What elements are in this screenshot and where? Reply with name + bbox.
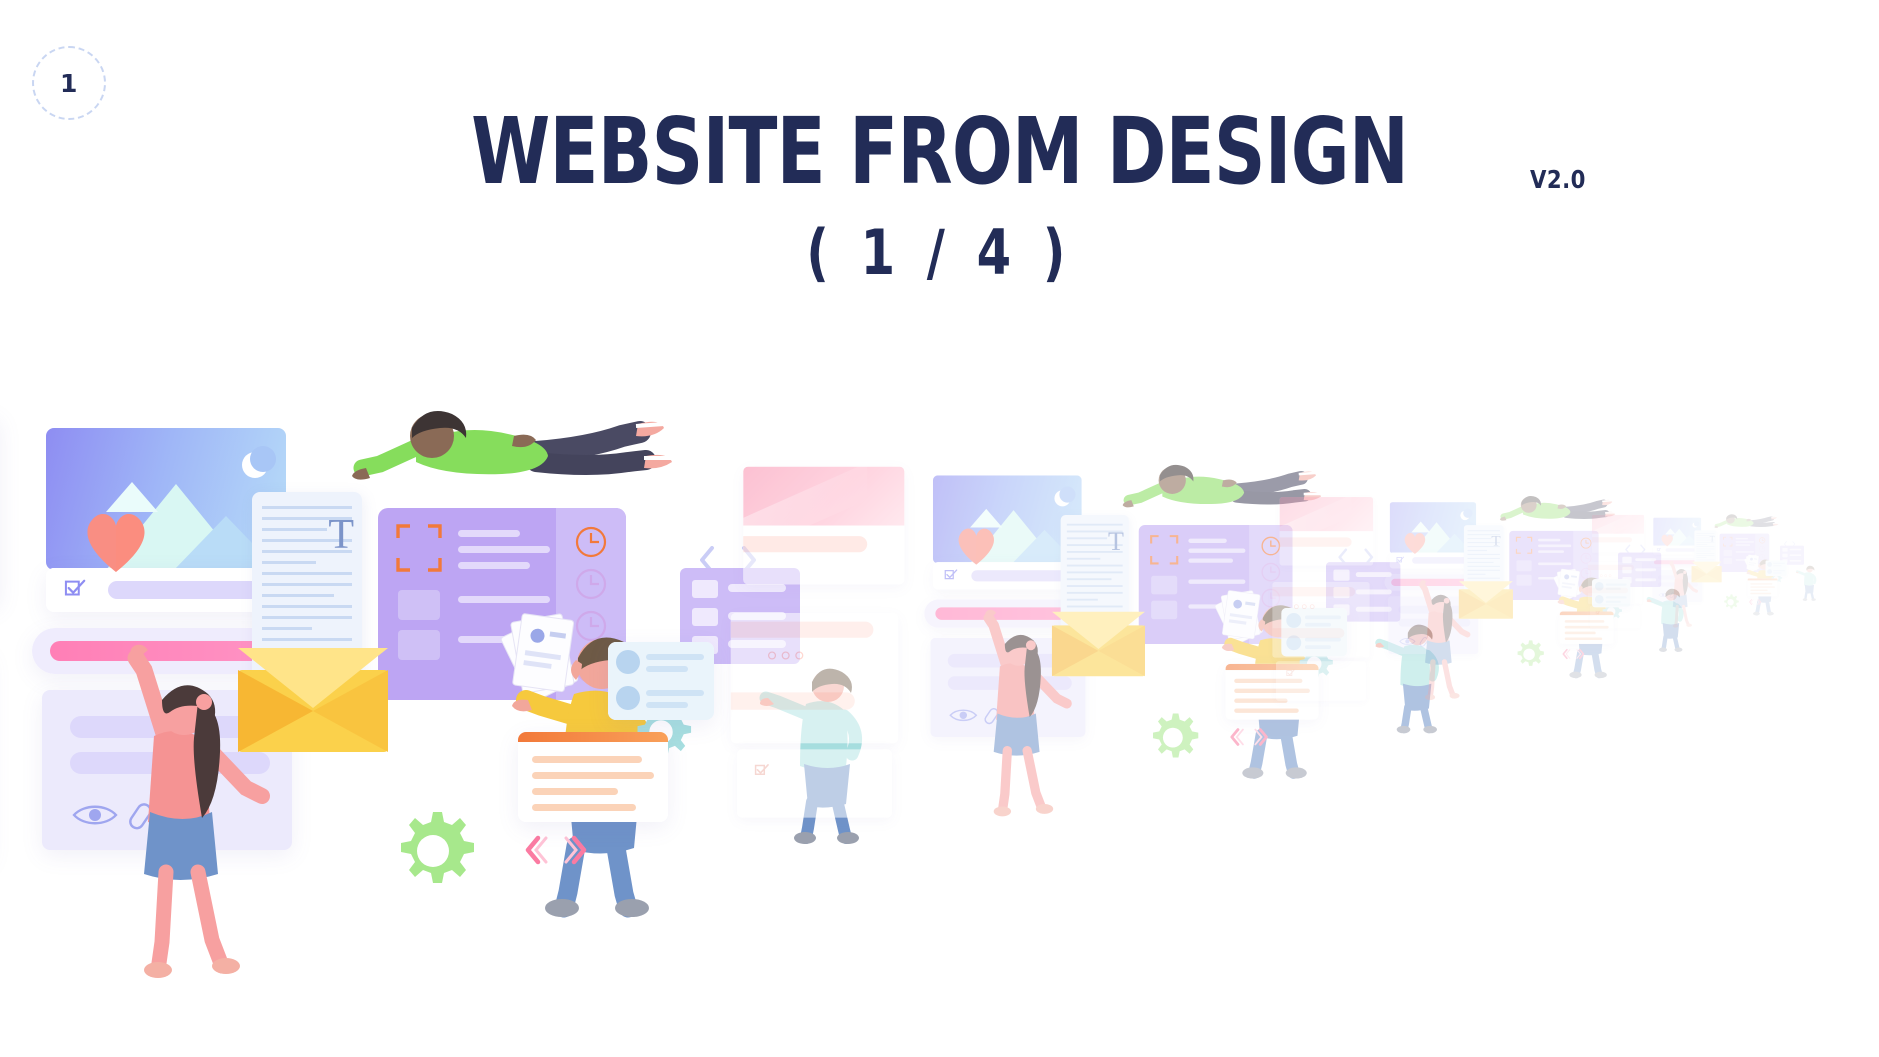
crop-marks-icon	[1723, 537, 1732, 547]
illustration-scene-3: T	[1620, 512, 1870, 624]
character-woman-pink	[948, 551, 1084, 811]
browser-mockup-pink-left	[743, 467, 904, 585]
browser-mockup-pink-left-2	[1272, 582, 1369, 658]
title-row: WEBSITE FROM DESIGN V2.0	[339, 104, 1540, 200]
gear-green-icon	[1145, 711, 1201, 764]
orange-list-card	[518, 732, 668, 822]
placeholder-bar	[1588, 565, 1634, 570]
gear-green-icon	[1513, 639, 1545, 670]
character-flying-green	[1714, 513, 1780, 531]
subtitle: ( 1 / 4 )	[806, 216, 1072, 289]
browser-mockup-pink-left-3	[737, 749, 892, 817]
nav-arrows-icon[interactable]	[1560, 647, 1589, 661]
character-woman-pink	[1658, 542, 1702, 626]
heart-icon	[954, 524, 999, 567]
page-title: WEBSITE FROM DESIGN	[471, 104, 1408, 200]
checkbox-icon	[1286, 669, 1295, 678]
text-glyph-T: T	[1108, 529, 1124, 555]
placeholder-bar	[743, 536, 867, 552]
nav-arrows-icon[interactable]	[1748, 598, 1764, 606]
checkbox-icon	[754, 763, 770, 778]
nav-arrows-icon[interactable]	[518, 830, 598, 870]
crop-marks-icon	[396, 524, 442, 572]
gear-green-icon	[1722, 594, 1740, 611]
heart-icon	[1660, 533, 1674, 547]
placeholder-bar	[731, 622, 874, 638]
text-glyph-T: T	[1710, 535, 1715, 543]
browser-mockup-pink-left-2	[731, 613, 898, 743]
profile-list-card	[608, 642, 714, 720]
text-glyph-T: T	[1491, 533, 1500, 548]
checkbox-icon	[1596, 610, 1601, 615]
version-tag: V2.0	[1530, 165, 1586, 194]
character-woman-pink	[1398, 546, 1477, 697]
placeholder-bar	[1592, 537, 1632, 542]
placeholder-bar	[731, 692, 855, 709]
browser-mockup-pink-left-2	[1588, 562, 1642, 604]
heart-icon	[80, 506, 152, 576]
crop-marks-icon	[1150, 535, 1179, 565]
character-teal	[1796, 562, 1820, 600]
placeholder-bar	[1272, 587, 1355, 596]
gear-green-icon	[388, 808, 478, 894]
illustration-stage: T	[0, 400, 1879, 1057]
browser-mockup-pink-left	[1592, 515, 1644, 553]
browser-mockup-pink-left-3	[1276, 661, 1366, 701]
crop-marks-icon	[1516, 537, 1533, 554]
character-woman-pink	[70, 550, 290, 970]
browser-mockup-pink-left-3	[1590, 606, 1640, 628]
heart-icon	[1402, 530, 1428, 555]
profile-list-card	[1766, 560, 1787, 576]
browser-mockup-pink-left	[1280, 497, 1374, 565]
text-glyph-T: T	[328, 514, 354, 556]
placeholder-bar	[1272, 628, 1344, 638]
slide-root: 1 WEBSITE FROM DESIGN V2.0 ( 1 / 4 )	[0, 0, 1879, 1057]
placeholder-bar	[1588, 588, 1628, 594]
character-flying-green	[350, 406, 680, 496]
slide-number-label: 1	[60, 71, 78, 96]
nav-arrows-icon[interactable]	[1226, 725, 1276, 750]
orange-list-card	[1748, 578, 1778, 596]
placeholder-bar	[1280, 537, 1352, 546]
headline-block: WEBSITE FROM DESIGN V2.0 ( 1 / 4 )	[0, 104, 1879, 289]
